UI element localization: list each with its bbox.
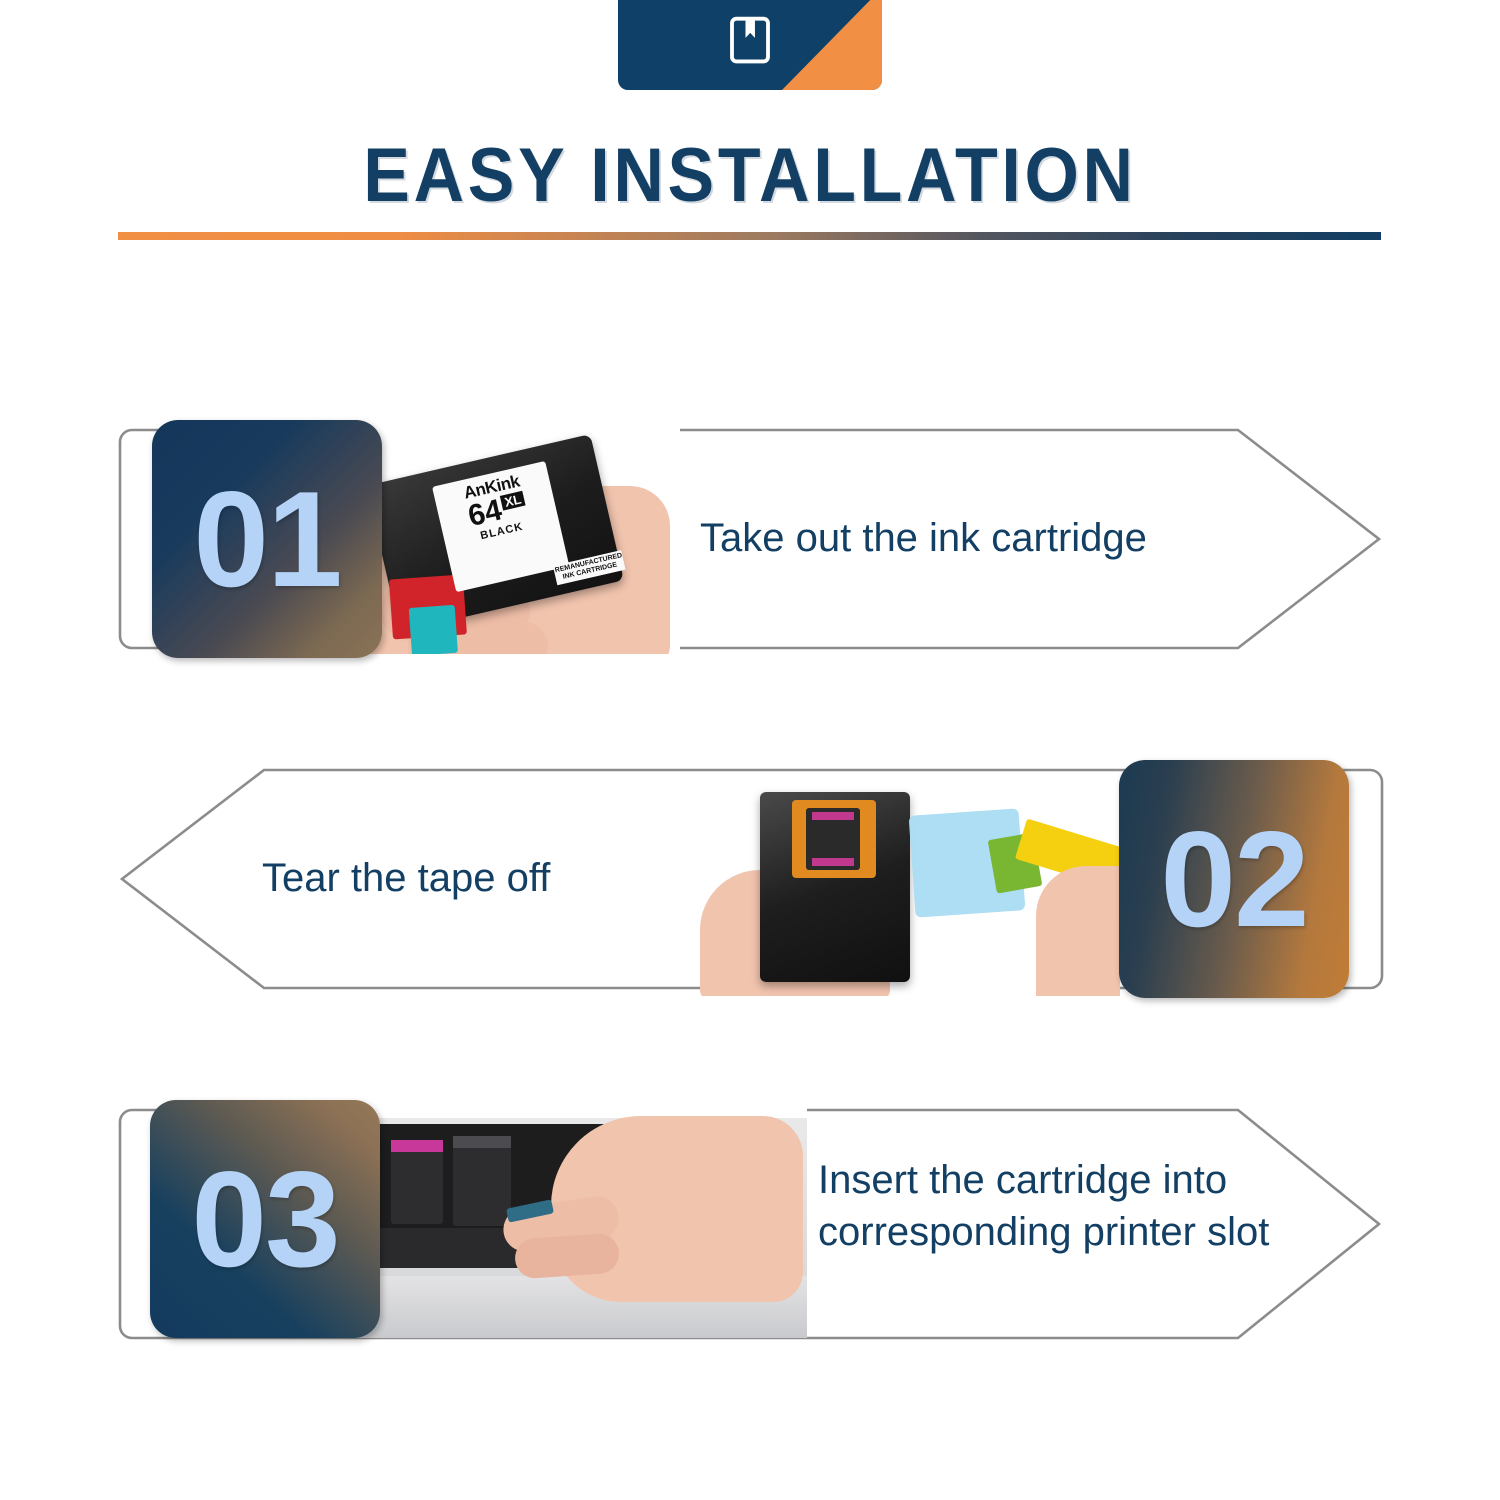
step-number-02: 02 [1160,811,1307,947]
step-row-01: AnKink 64 XL BLACK REMANUFACTURED INK CA… [0,420,1500,660]
title-divider [118,232,1381,240]
banner-orange-corner [782,0,882,90]
step-number-01: 01 [193,471,340,607]
step-number-03: 03 [191,1151,338,1287]
book-bookmark-icon [723,13,777,67]
step-caption-01: Take out the ink cartridge [700,512,1260,564]
step-badge-01: 01 [152,420,382,658]
header-banner [618,0,882,90]
infographic-page: EASY INSTALLATION AnKink 64 [0,0,1500,1500]
step-badge-02: 02 [1119,760,1349,998]
page-title: EASY INSTALLATION [60,132,1440,219]
step-caption-03: Insert the cartridge into corresponding … [818,1154,1318,1258]
step-row-03: 03 Insert the cartridge into correspondi… [0,1100,1500,1350]
step-caption-02: Tear the tape off [262,852,782,904]
step-row-02: 02 Tear the tape off [0,760,1500,1000]
step-photo-03 [355,1108,807,1338]
step-badge-03: 03 [150,1100,380,1338]
